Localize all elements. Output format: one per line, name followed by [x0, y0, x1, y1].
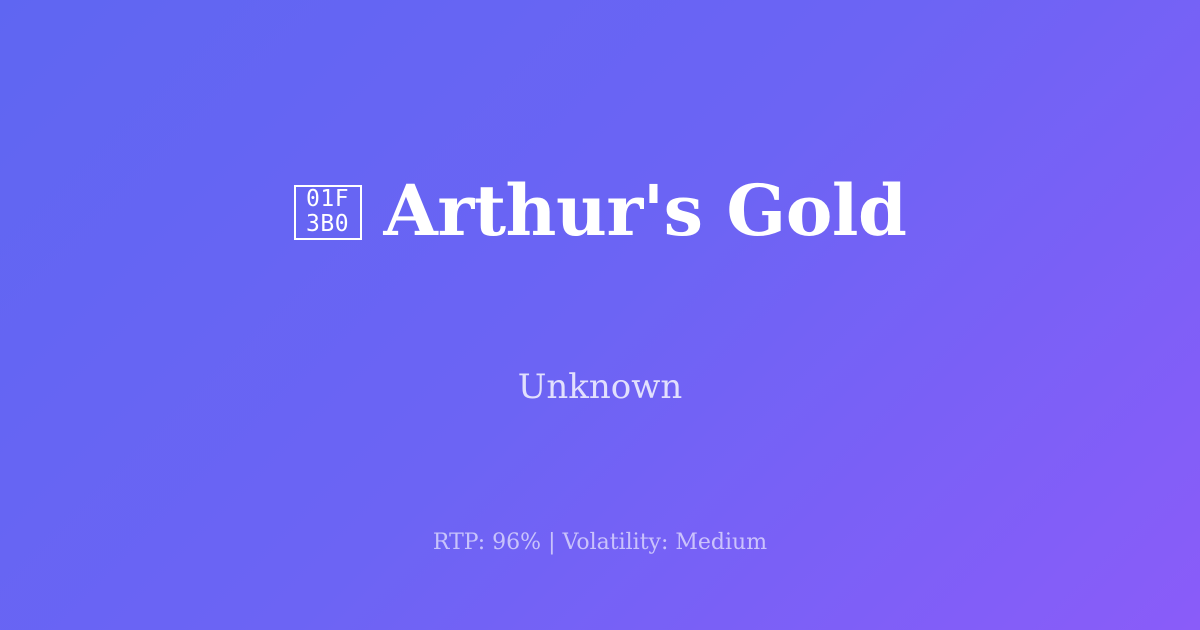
game-preview-card: 01F 3B0 Arthur's Gold Unknown RTP: 96% |… [0, 0, 1200, 630]
game-provider-subtitle: Unknown [0, 364, 1200, 410]
title-line: 01F 3B0 Arthur's Gold [294, 129, 907, 293]
slot-machine-icon-codepoint-low: 3B0 [306, 212, 349, 237]
game-meta-stats: RTP: 96% | Volatility: Medium [0, 528, 1200, 558]
game-title: Arthur's Gold [384, 176, 907, 246]
slot-machine-icon-codepoint-high: 01F [306, 187, 349, 212]
slot-machine-icon: 01F 3B0 [294, 185, 362, 240]
